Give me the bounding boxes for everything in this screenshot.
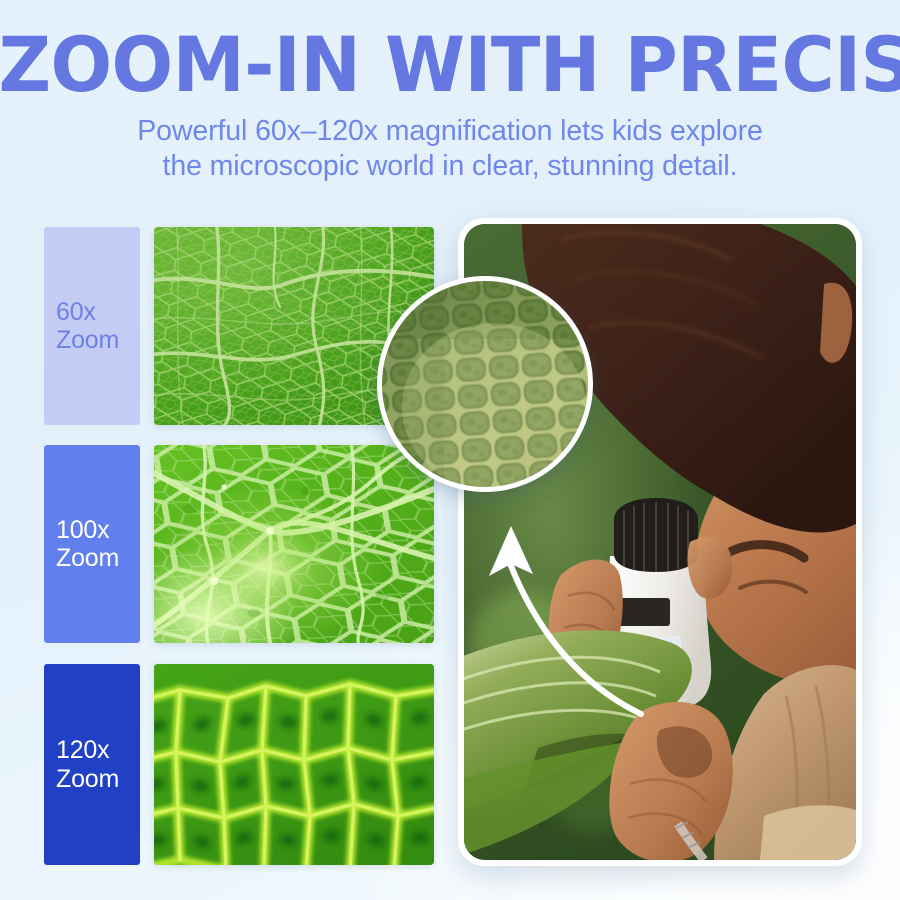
zoom-chip-100x-word: Zoom [56, 544, 140, 573]
page-title: ZOOM-IN WITH PRECISION [0, 30, 900, 100]
header: ZOOM-IN WITH PRECISION Powerful 60x–120x… [0, 30, 900, 183]
zoom-chip-60x-magnification: 60x [56, 298, 140, 327]
zoom-row-60x: 60x Zoom [44, 227, 434, 425]
zoom-chip-100x[interactable]: 100x Zoom [44, 445, 140, 643]
zoom-chip-120x-magnification: 120x [56, 736, 140, 765]
zoom-row-100x: 100x Zoom [44, 445, 434, 643]
zoom-chip-120x[interactable]: 120x Zoom [44, 664, 140, 865]
zoom-level-grid: 60x Zoom [44, 227, 434, 865]
leaf-cell-walls-macro-image [154, 445, 434, 643]
zoom-chip-60x[interactable]: 60x Zoom [44, 227, 140, 425]
zoom-row-120x: 120x Zoom [44, 664, 434, 865]
zoom-chip-120x-word: Zoom [56, 765, 140, 794]
zoom-chip-100x-magnification: 100x [56, 516, 140, 545]
subtitle: Powerful 60x–120x magnification lets kid… [24, 114, 876, 184]
subtitle-line-1: Powerful 60x–120x magnification lets kid… [24, 114, 876, 149]
poster-canvas: ZOOM-IN WITH PRECISION Powerful 60x–120x… [0, 0, 900, 900]
zoom-chip-60x-word: Zoom [56, 326, 140, 355]
plant-cells-nuclei-macro-image [154, 664, 434, 865]
subtitle-line-2: the microscopic world in clear, stunning… [24, 149, 876, 184]
magnified-cell-view-inset [377, 276, 593, 492]
